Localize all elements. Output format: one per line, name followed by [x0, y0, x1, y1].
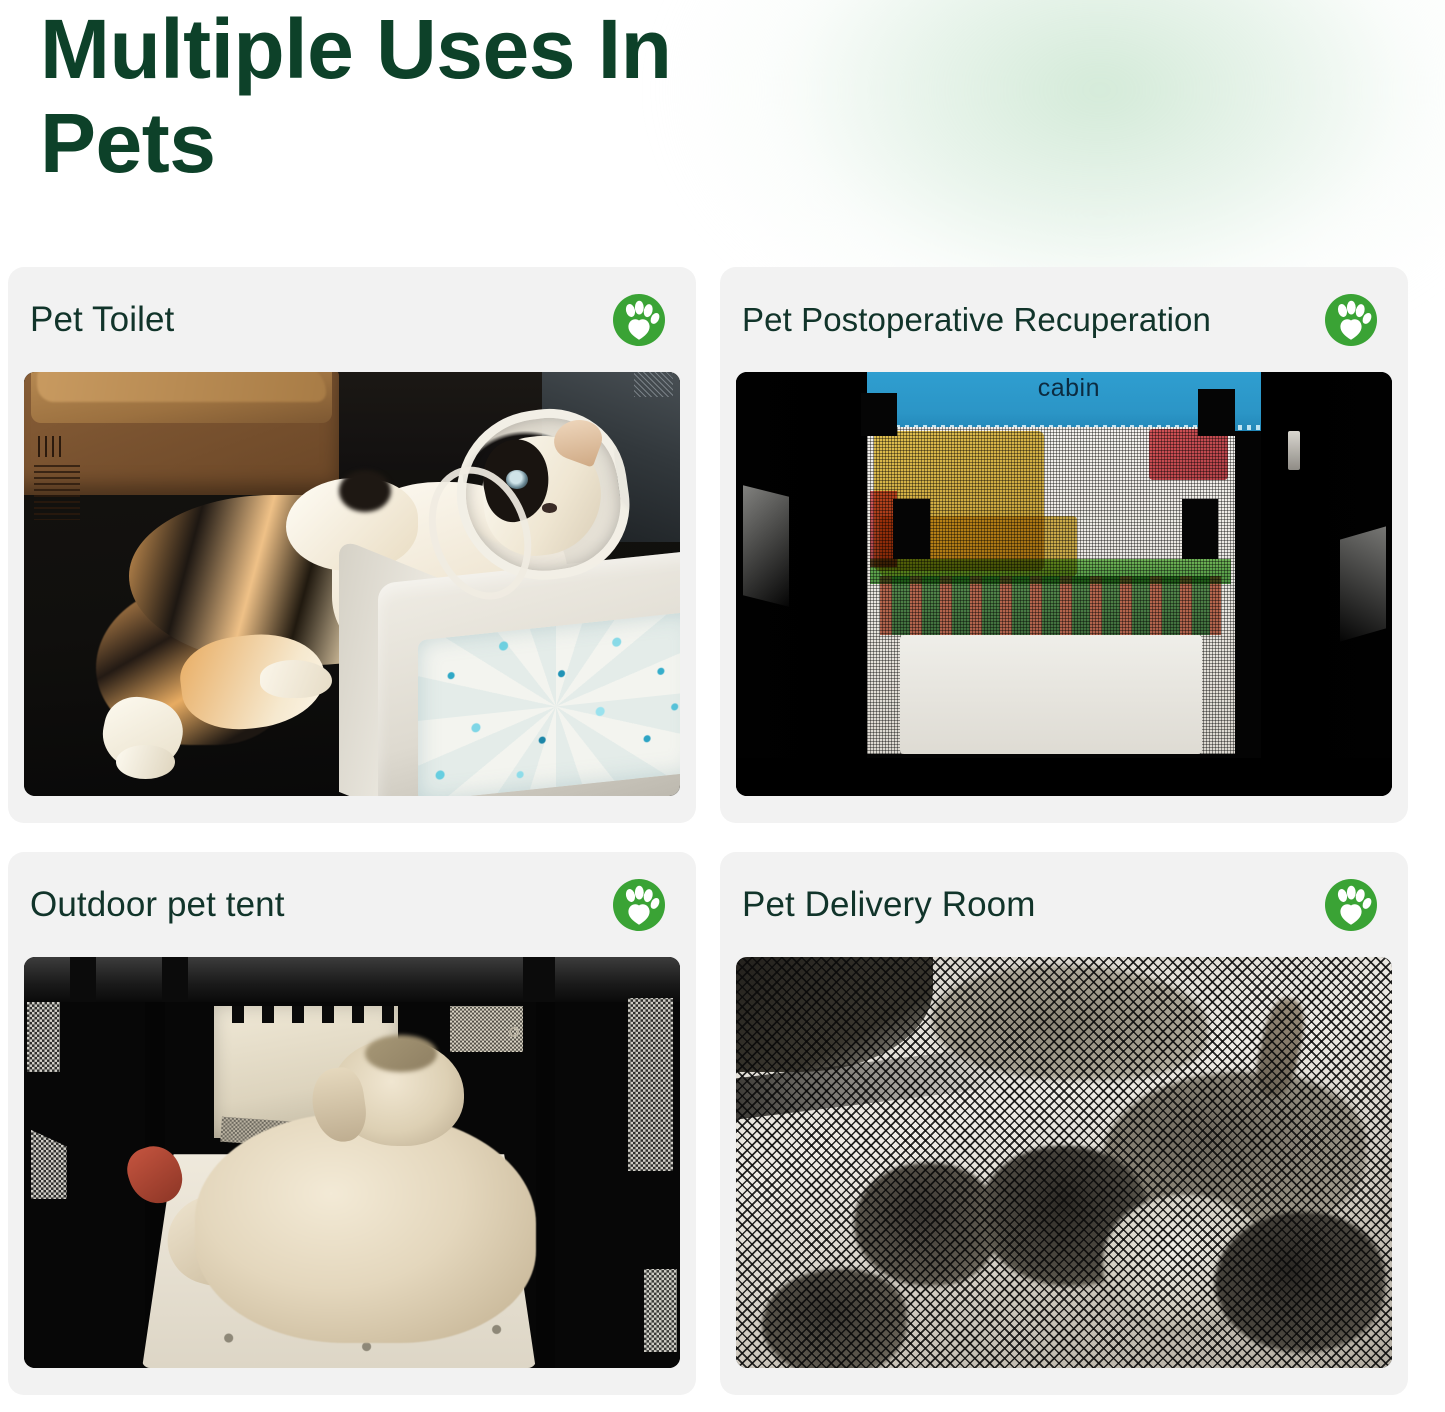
use-case-grid: Pet Toilet	[8, 267, 1437, 1397]
use-case-card-pet-delivery-room[interactable]: Pet Delivery Room	[720, 852, 1408, 1395]
card-photo-pet-toilet	[24, 372, 680, 796]
card-header: Pet Toilet	[8, 267, 696, 372]
use-case-card-outdoor-pet-tent[interactable]: Outdoor pet tent	[8, 852, 696, 1395]
card-title: Outdoor pet tent	[30, 885, 285, 925]
use-case-card-pet-toilet[interactable]: Pet Toilet	[8, 267, 696, 823]
card-header: Outdoor pet tent	[8, 852, 696, 957]
card-title: Pet Postoperative Recuperation	[742, 301, 1211, 339]
use-case-card-pet-postoperative-recuperation[interactable]: Pet Postoperative Recuperation	[720, 267, 1408, 823]
card-header: Pet Delivery Room	[720, 852, 1408, 957]
paw-print-icon	[1324, 878, 1378, 932]
card-header: Pet Postoperative Recuperation	[720, 267, 1408, 372]
paw-print-icon	[1324, 293, 1378, 347]
photo-caption-cabin: cabin	[1038, 374, 1100, 403]
promo-page: Multiple Uses In Pets Pet Toilet	[0, 0, 1445, 1412]
card-photo-pet-delivery-room	[736, 957, 1392, 1368]
mesh-overlay	[736, 957, 1392, 1368]
card-title: Pet Delivery Room	[742, 885, 1035, 925]
paw-print-icon	[612, 293, 666, 347]
card-title: Pet Toilet	[30, 300, 174, 340]
paw-print-icon	[612, 878, 666, 932]
zipper-pull-icon	[1288, 431, 1300, 469]
page-title: Multiple Uses In Pets	[40, 2, 740, 190]
card-photo-pet-postoperative-recuperation: cabin	[736, 372, 1392, 796]
card-photo-outdoor-pet-tent	[24, 957, 680, 1368]
